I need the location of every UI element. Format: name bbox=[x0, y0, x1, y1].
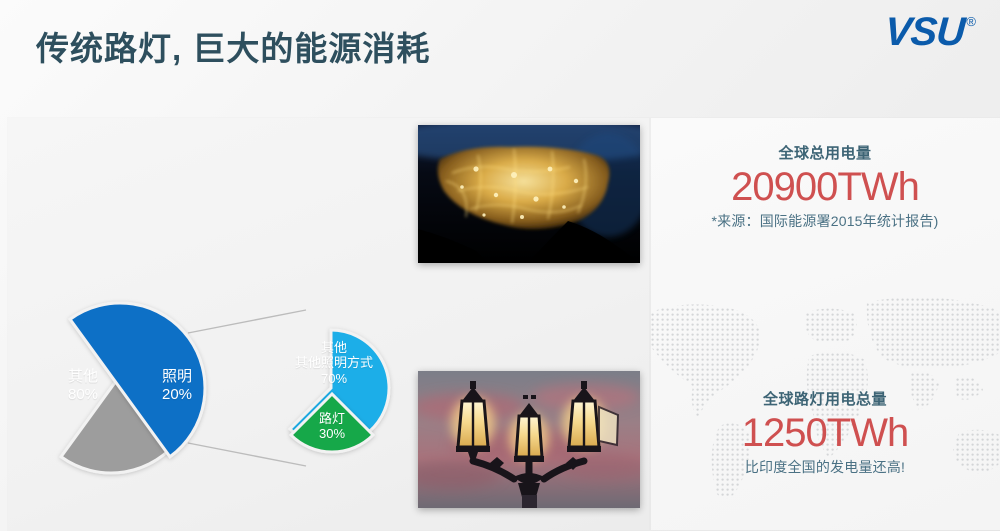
night-earth-graphic bbox=[418, 125, 640, 263]
energy-pie-chart: 其他 80% 照明 20% 其他 其他照明方式 70% 路灯 30% bbox=[16, 288, 406, 488]
stat-caption: 全球路灯用电总量 bbox=[660, 388, 990, 409]
brand-logo: VSU ® bbox=[885, 12, 976, 52]
pie-chart-svg bbox=[16, 288, 406, 488]
stat-value: 1250TWh bbox=[660, 411, 990, 456]
stat-caption: 全球总用电量 bbox=[660, 142, 990, 163]
street-lamp-photo bbox=[418, 371, 640, 508]
stat-value: 20900TWh bbox=[660, 165, 990, 210]
street-lamp-graphic bbox=[418, 371, 640, 508]
registered-trademark-icon: ® bbox=[966, 14, 976, 29]
brand-logo-text: VSU bbox=[884, 12, 966, 52]
stat-block-streetlight-electricity: 全球路灯用电总量 1250TWh 比印度全国的发电量还高! bbox=[660, 388, 990, 477]
stat-block-global-electricity: 全球总用电量 20900TWh *来源：国际能源署2015年统计报告) bbox=[660, 142, 990, 231]
page-title: 传统路灯, 巨大的能源消耗 bbox=[36, 22, 430, 70]
night-earth-lights-photo bbox=[418, 125, 640, 263]
stat-source-note: *来源：国际能源署2015年统计报告) bbox=[660, 211, 990, 231]
stat-comparison-note: 比印度全国的发电量还高! bbox=[660, 457, 990, 477]
